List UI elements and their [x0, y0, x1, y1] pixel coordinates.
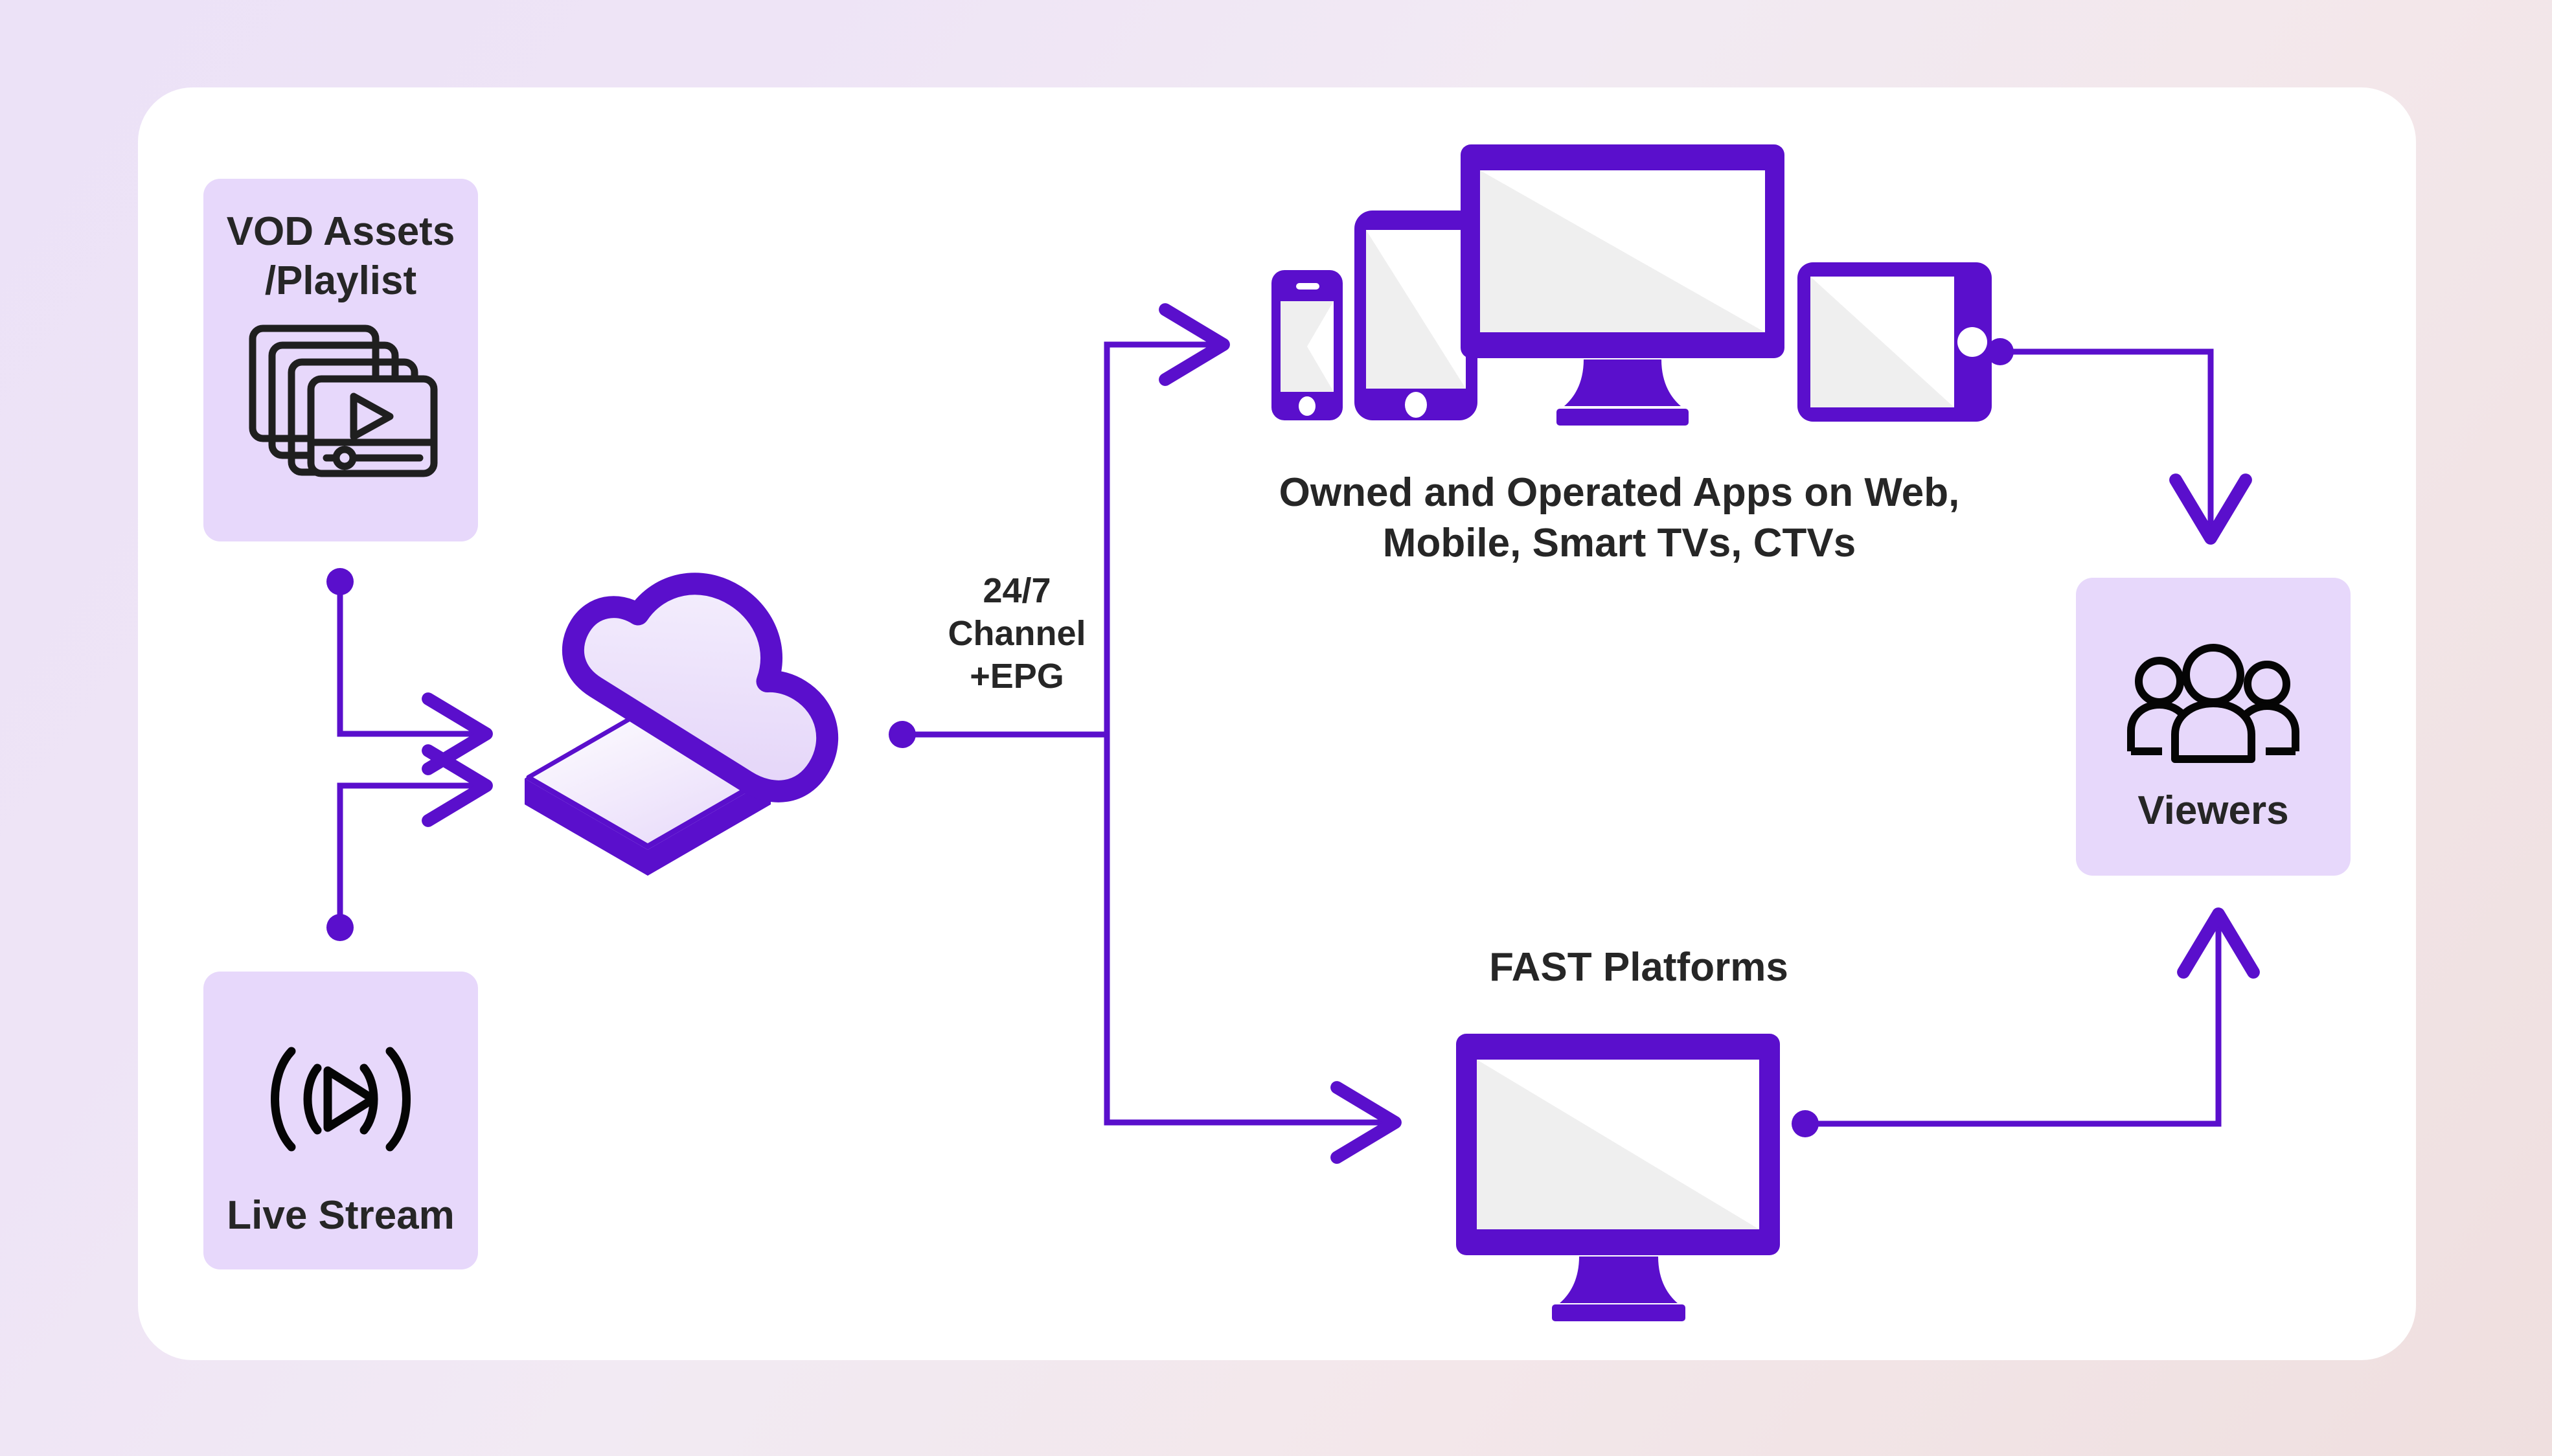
multi-device-icon	[1266, 139, 1979, 437]
node-owned-operated-label: Owned and Operated Apps on Web, Mobile, …	[1231, 468, 2008, 568]
node-vod-assets[interactable]: VOD Assets /Playlist	[203, 179, 478, 541]
node-viewers[interactable]: Viewers	[2076, 578, 2351, 876]
cloud-platform-icon	[499, 525, 900, 913]
node-owned-operated-devices[interactable]	[1266, 139, 1979, 437]
diagram-stage: VOD Assets /Playlist	[0, 0, 2552, 1456]
tablet-landscape-icon	[1797, 262, 1992, 422]
smartphone-large-icon	[1354, 210, 1477, 420]
node-vod-assets-label: VOD Assets /Playlist	[227, 207, 455, 305]
desktop-monitor-icon	[1461, 144, 1784, 426]
people-group-icon	[2119, 648, 2307, 764]
smartphone-small-icon	[1271, 270, 1343, 420]
channel-epg-label: 24/7 Channel +EPG	[933, 570, 1101, 698]
node-cloud-platform[interactable]	[499, 525, 900, 913]
node-live-stream[interactable]: Live Stream	[203, 972, 478, 1269]
node-fast-platforms[interactable]	[1451, 1030, 1788, 1308]
live-broadcast-icon	[250, 1034, 431, 1164]
video-stack-icon	[244, 319, 438, 481]
node-viewers-label: Viewers	[2137, 786, 2288, 836]
node-live-stream-label: Live Stream	[227, 1191, 455, 1240]
node-fast-platforms-label: FAST Platforms	[1347, 942, 1930, 993]
monitor-icon	[1451, 1030, 1788, 1308]
